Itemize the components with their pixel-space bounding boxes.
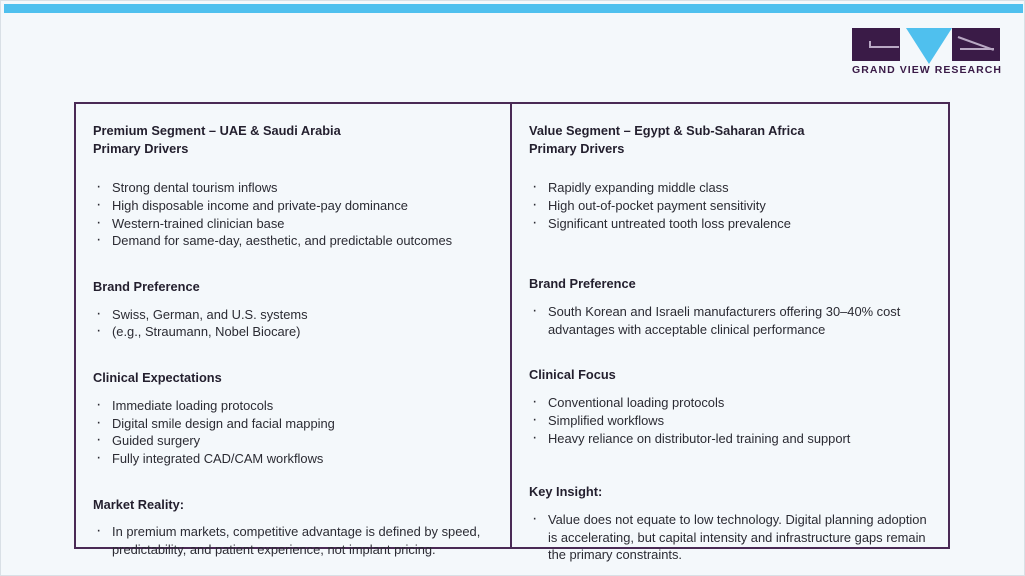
list-item: Demand for same-day, aesthetic, and pred… [93, 232, 494, 250]
section-heading-brand-preference: Brand Preference [93, 278, 494, 296]
value-panel-title: Value Segment – Egypt & Sub-Saharan Afri… [529, 122, 932, 140]
premium-title-block: Premium Segment – UAE & Saudi Arabia Pri… [93, 122, 494, 157]
list-item: (e.g., Straumann, Nobel Biocare) [93, 323, 494, 341]
top-accent-bar [4, 4, 1023, 13]
grand-view-research-logo: GRAND VIEW RESEARCH [852, 28, 1000, 78]
spacer [529, 293, 932, 303]
spacer [93, 296, 494, 306]
value-key-insight-list: Value does not equate to low technology.… [529, 511, 932, 564]
premium-clinical-expectations-section: Clinical Expectations Immediate loading … [93, 369, 494, 468]
list-item: South Korean and Israeli manufacturers o… [529, 303, 932, 339]
value-title-block: Value Segment – Egypt & Sub-Saharan Afri… [529, 122, 932, 157]
premium-market-reality-list: In premium markets, competitive advantag… [93, 523, 494, 559]
spacer [93, 468, 494, 496]
spacer [93, 387, 494, 397]
spacer [529, 232, 932, 275]
list-item: High out-of-pocket payment sensitivity [529, 197, 932, 215]
logo-triangle-icon [906, 28, 952, 64]
panel-premium-segment: Premium Segment – UAE & Saudi Arabia Pri… [76, 104, 512, 547]
premium-brand-preference-section: Brand Preference Swiss, German, and U.S.… [93, 278, 494, 341]
spacer [93, 157, 494, 179]
value-primary-drivers-list: Rapidly expanding middle class High out-… [529, 179, 932, 232]
premium-panel-subtitle: Primary Drivers [93, 140, 494, 158]
section-heading-market-reality: Market Reality: [93, 496, 494, 514]
list-item: Conventional loading protocols [529, 394, 932, 412]
list-item: Simplified workflows [529, 412, 932, 430]
spacer [93, 341, 494, 369]
list-item: Swiss, German, and U.S. systems [93, 306, 494, 324]
value-panel-subtitle: Primary Drivers [529, 140, 932, 158]
list-item: Rapidly expanding middle class [529, 179, 932, 197]
list-item: Immediate loading protocols [93, 397, 494, 415]
logo-wordmark: GRAND VIEW RESEARCH [852, 64, 1000, 76]
logo-right-horizontal-stroke [960, 48, 994, 50]
list-item: Fully integrated CAD/CAM workflows [93, 450, 494, 468]
premium-market-reality-section: Market Reality: In premium markets, comp… [93, 496, 494, 559]
list-item: High disposable income and private-pay d… [93, 197, 494, 215]
section-heading-clinical-focus: Clinical Focus [529, 366, 932, 384]
list-item: Significant untreated tooth loss prevale… [529, 215, 932, 233]
spacer [93, 250, 494, 278]
value-clinical-focus-list: Conventional loading protocols Simplifie… [529, 394, 932, 447]
value-clinical-focus-section: Clinical Focus Conventional loading prot… [529, 366, 932, 447]
premium-brand-preference-list: Swiss, German, and U.S. systems (e.g., S… [93, 306, 494, 342]
list-item: Strong dental tourism inflows [93, 179, 494, 197]
list-item: In premium markets, competitive advantag… [93, 523, 494, 559]
slide-canvas: GRAND VIEW RESEARCH Premium Segment – UA… [0, 0, 1025, 576]
logo-block-left-icon [852, 28, 900, 61]
spacer [93, 513, 494, 523]
logo-block-right-icon [952, 28, 1000, 61]
spacer [529, 447, 932, 483]
spacer [529, 384, 932, 394]
list-item: Guided surgery [93, 432, 494, 450]
premium-panel-title: Premium Segment – UAE & Saudi Arabia [93, 122, 494, 140]
value-key-insight-section: Key Insight: Value does not equate to lo… [529, 483, 932, 564]
list-item: Heavy reliance on distributor-led traini… [529, 430, 932, 448]
section-heading-brand-preference: Brand Preference [529, 275, 932, 293]
logo-left-horizontal-stroke [869, 46, 899, 48]
spacer [529, 157, 932, 179]
section-heading-clinical-expectations: Clinical Expectations [93, 369, 494, 387]
spacer [529, 338, 932, 366]
value-brand-preference-list: South Korean and Israeli manufacturers o… [529, 303, 932, 339]
comparison-box: Premium Segment – UAE & Saudi Arabia Pri… [74, 102, 950, 549]
premium-clinical-expectations-list: Immediate loading protocols Digital smil… [93, 397, 494, 468]
spacer [529, 501, 932, 511]
list-item: Western-trained clinician base [93, 215, 494, 233]
section-heading-key-insight: Key Insight: [529, 483, 932, 501]
premium-primary-drivers-list: Strong dental tourism inflows High dispo… [93, 179, 494, 250]
logo-marks [852, 28, 1000, 61]
list-item: Value does not equate to low technology.… [529, 511, 932, 564]
value-brand-preference-section: Brand Preference South Korean and Israel… [529, 275, 932, 338]
panel-value-segment: Value Segment – Egypt & Sub-Saharan Afri… [512, 104, 948, 547]
list-item: Digital smile design and facial mapping [93, 415, 494, 433]
